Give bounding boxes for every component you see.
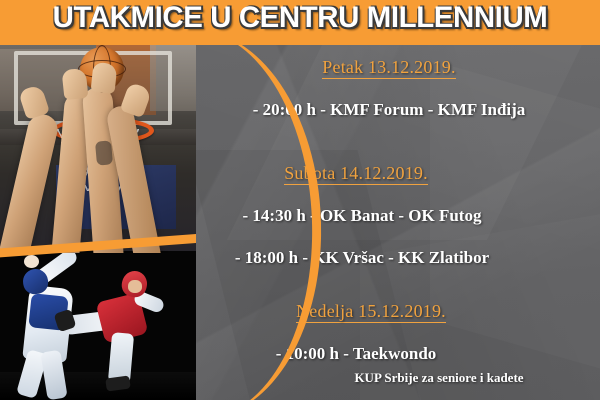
match-entry: - 14:30 h - OK Banat - OK Futog <box>186 206 600 226</box>
event-poster: UTAKMICE U CENTRU MILLENNIUM Petak 13.12… <box>0 0 600 400</box>
schedule-day-saturday: Subota 14.12.2019. - 14:30 h - OK Banat … <box>186 163 600 268</box>
match-entry: - 10:00 h - Taekwondo <box>186 344 600 364</box>
poster-banner: UTAKMICE U CENTRU MILLENNIUM <box>0 0 600 45</box>
match-note: KUP Srbije za seniore i kadete <box>186 370 600 386</box>
photo-column <box>0 45 196 400</box>
day-heading-text: Petak 13.12.2019. <box>322 57 455 79</box>
taekwondo-photo <box>0 251 196 400</box>
day-heading-text: Subota 14.12.2019. <box>284 163 428 185</box>
day-heading: Subota 14.12.2019. <box>186 163 600 184</box>
schedule-day-sunday: Nedelja 15.12.2019. - 10:00 h - Taekwond… <box>186 301 600 386</box>
schedule-list: Petak 13.12.2019. - 20:00 h - KMF Forum … <box>186 45 600 400</box>
page-title: UTAKMICE U CENTRU MILLENNIUM <box>6 1 594 35</box>
day-heading-text: Nedelja 15.12.2019. <box>296 301 446 323</box>
day-heading: Nedelja 15.12.2019. <box>186 301 600 322</box>
basketball-photo <box>0 45 196 253</box>
blue-fighter-fist <box>24 255 39 268</box>
player-hand <box>90 62 117 94</box>
match-entry: - 20:00 h - KMF Forum - KMF Inđija <box>186 100 600 120</box>
match-entry: - 18:00 h - KK Vršac - KK Zlatibor <box>186 248 600 268</box>
player-tattoo <box>95 140 113 165</box>
day-heading: Petak 13.12.2019. <box>186 57 600 78</box>
red-fighter-face <box>128 280 142 293</box>
schedule-day-friday: Petak 13.12.2019. - 20:00 h - KMF Forum … <box>186 57 600 120</box>
